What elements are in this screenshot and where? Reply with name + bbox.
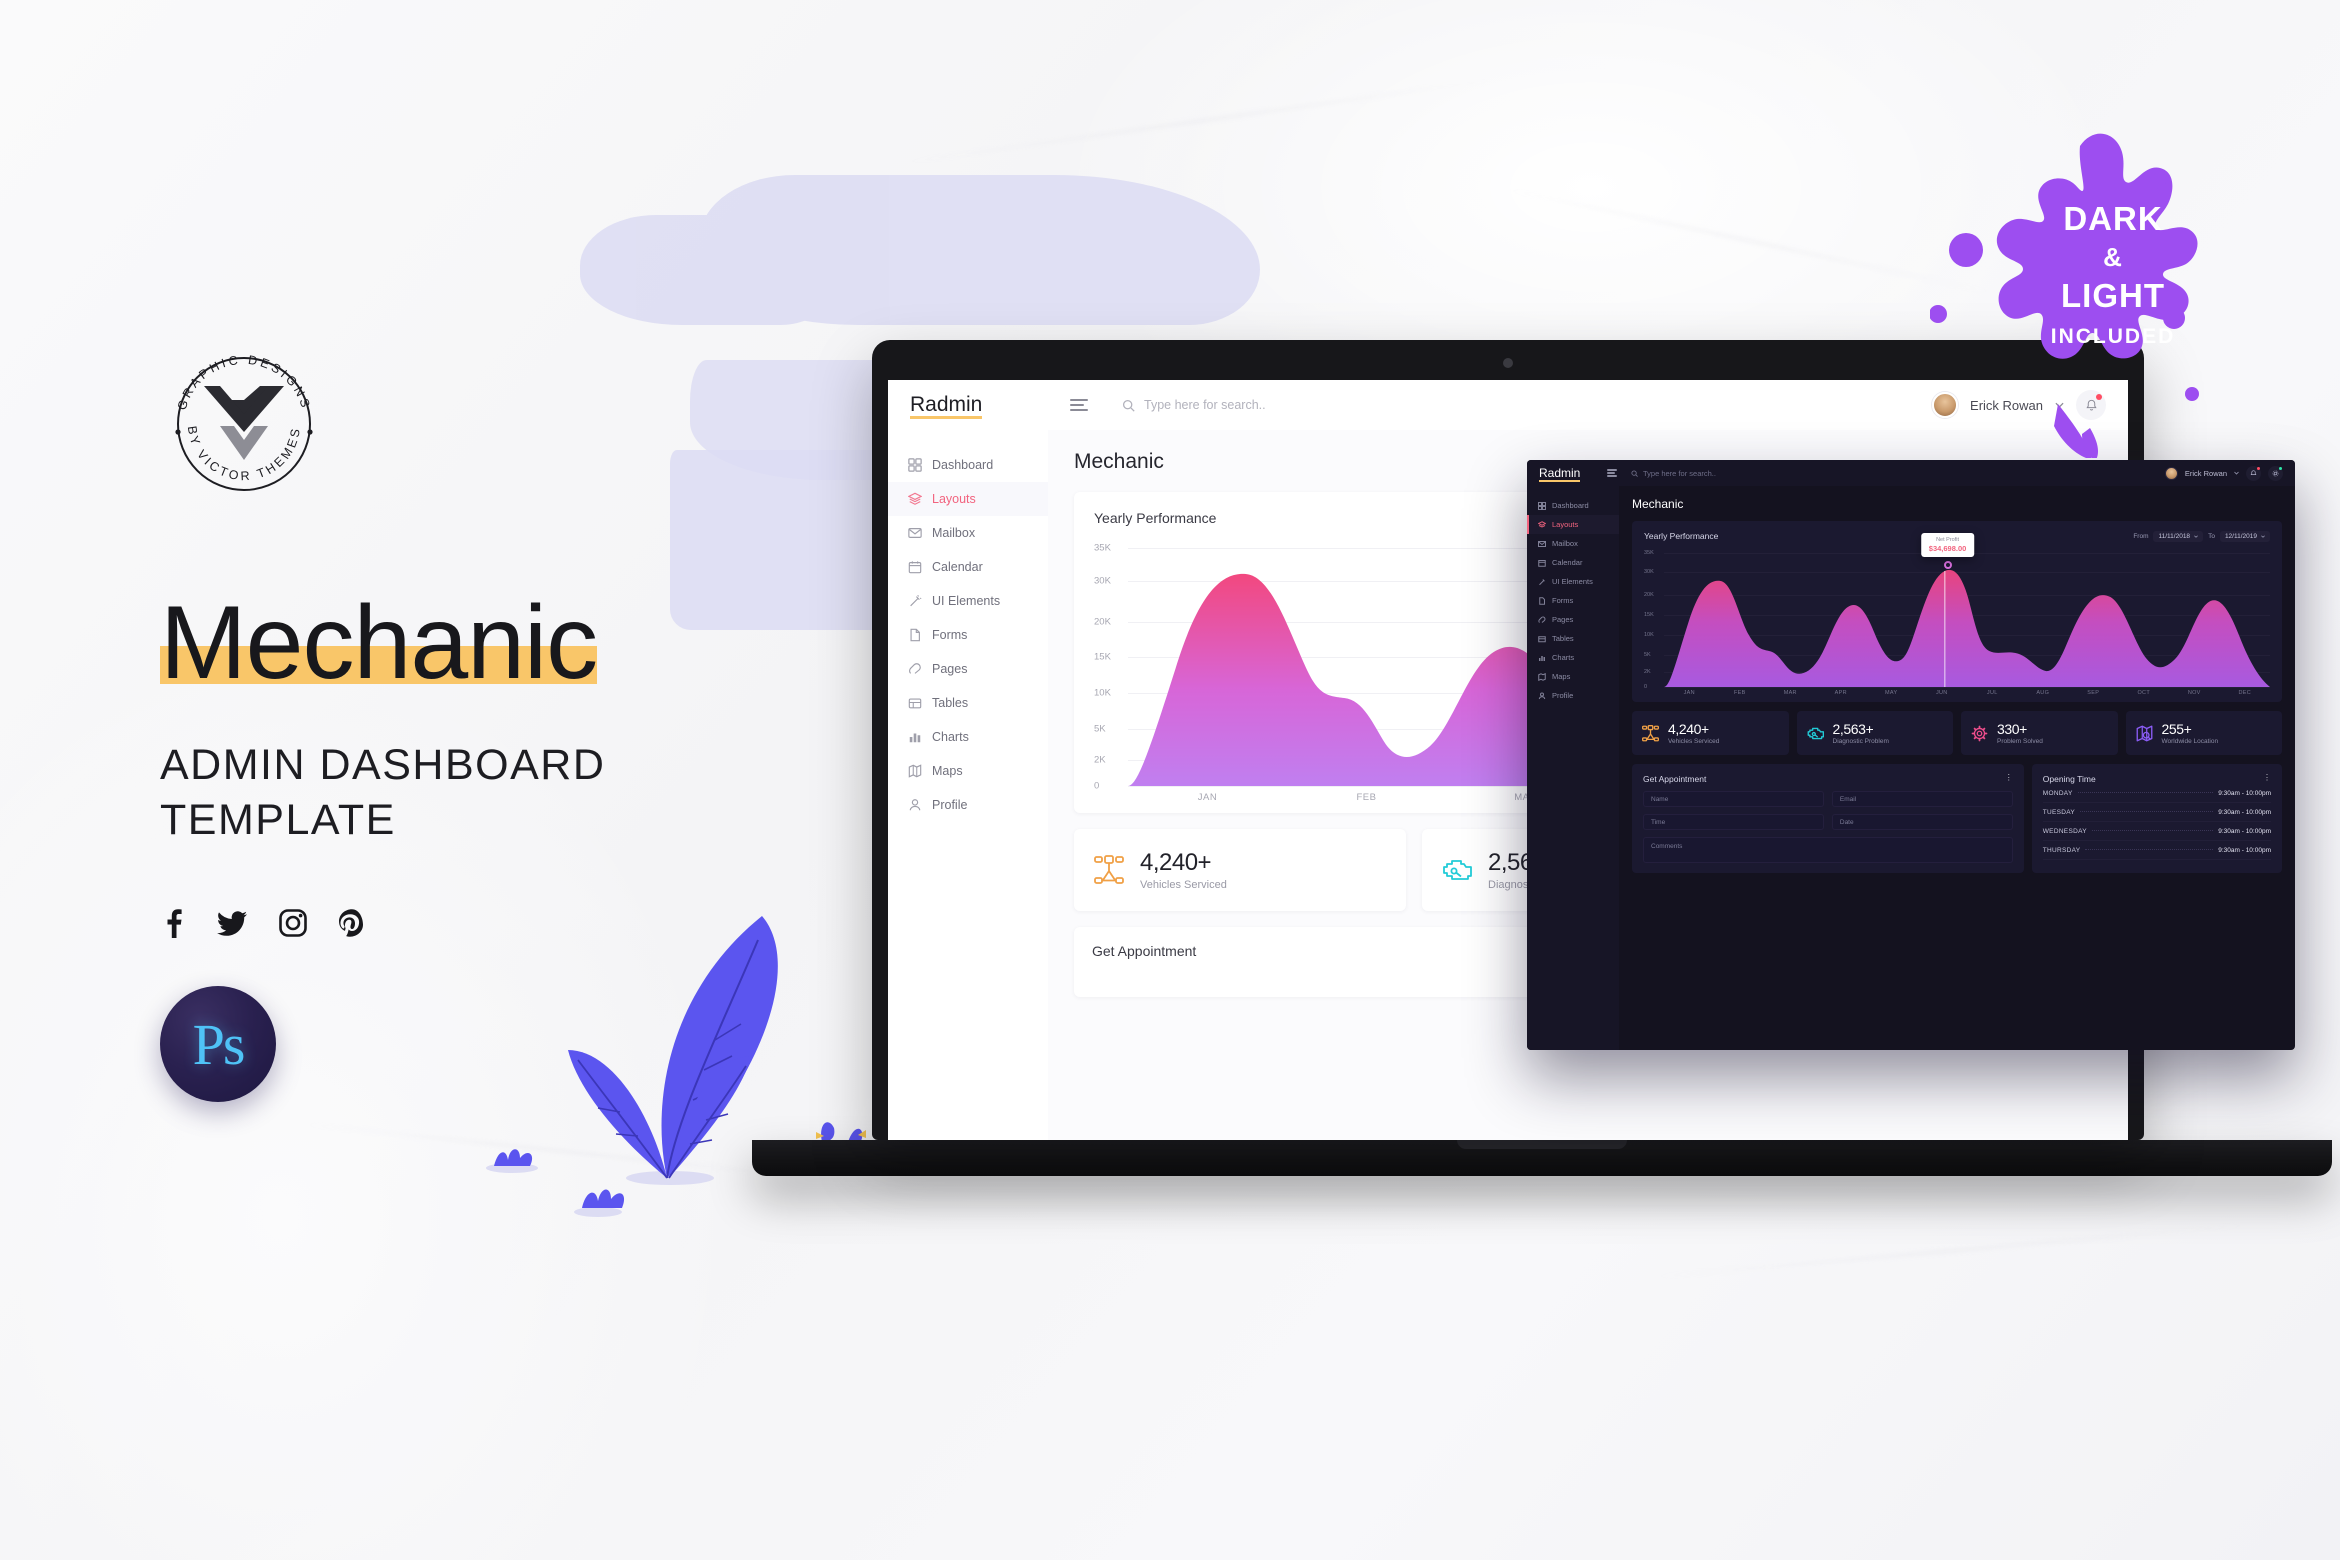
subtitle-line-1: ADMIN DASHBOARD xyxy=(160,738,800,793)
sidebar-item-label: Tables xyxy=(1552,634,1574,643)
grid-icon xyxy=(908,458,922,472)
dark-topbar: Radmin Type here for search.. Erick Rowa… xyxy=(1527,460,2295,486)
app-logo-text: Radmin xyxy=(910,393,982,416)
sidebar-item-ui-elements[interactable]: UI Elements xyxy=(1527,572,1619,591)
range-to-value: 12/11/2019 xyxy=(2225,533,2257,540)
sidebar-item-charts[interactable]: Charts xyxy=(1527,648,1619,667)
sidebar-item-label: Maps xyxy=(1552,672,1570,681)
layers-icon xyxy=(908,492,922,506)
app-logo-text: Radmin xyxy=(1539,466,1580,480)
sidebar-item-label: UI Elements xyxy=(932,594,1000,608)
appointment-row-1: Name Email xyxy=(1643,791,2013,807)
facebook-icon[interactable] xyxy=(160,908,186,938)
opening-row: MONDAY 9:30am - 10:00pm xyxy=(2043,784,2271,803)
avatar xyxy=(2165,467,2178,480)
dark-light-splash: DARK & LIGHT INCLUDED xyxy=(1930,128,2320,458)
opening-time: 9:30am - 10:00pm xyxy=(2218,828,2271,835)
sidebar-item-mailbox[interactable]: Mailbox xyxy=(888,516,1048,550)
sidebar: Dashboard Layouts Mailbox Calendar xyxy=(888,430,1048,1140)
splash-line-3: LIGHT xyxy=(1930,277,2296,315)
pinterest-icon[interactable] xyxy=(338,908,366,938)
sidebar-item-label: Pages xyxy=(932,662,967,676)
file-icon xyxy=(1538,597,1546,605)
tooltip-label: Net Profit xyxy=(1929,537,1967,543)
bar-chart-icon xyxy=(908,730,922,744)
dark-main: Mechanic Yearly Performance From 11/11/2… xyxy=(1619,486,2295,1050)
sidebar-item-forms[interactable]: Forms xyxy=(888,618,1048,652)
stat-card-problem-solved: 330+ Problem Solved xyxy=(1961,711,2118,755)
x-tick: JAN xyxy=(1664,690,1715,696)
opening-day: MONDAY xyxy=(2043,790,2073,797)
user-icon xyxy=(908,798,922,812)
sidebar-item-layouts[interactable]: Layouts xyxy=(1527,515,1619,534)
chart-point-marker xyxy=(1944,561,1952,569)
y-tick: 0 xyxy=(1094,781,1099,792)
stat-card-worldwide-location: 255+ Worldwide Location xyxy=(2126,711,2283,755)
dotted-leader xyxy=(2078,792,2214,793)
y-tick: 2K xyxy=(1094,754,1106,765)
y-tick: 5K xyxy=(1094,723,1106,734)
get-appointment-panel: Get Appointment ⋮ xyxy=(1074,927,1580,997)
x-tick: FEB xyxy=(1287,792,1446,803)
sidebar-item-maps[interactable]: Maps xyxy=(1527,667,1619,686)
stat-card-diagnostic-problem: 2,563+ Diagnostic Problem xyxy=(1797,711,1954,755)
sidebar-item-maps[interactable]: Maps xyxy=(888,754,1048,788)
range-from-input[interactable]: 11/11/2018 xyxy=(2153,531,2203,542)
x-tick: SEP xyxy=(2068,690,2119,696)
sidebar: Dashboard Layouts Mailbox Calendar UI El… xyxy=(1527,486,1619,1050)
sidebar-item-tables[interactable]: Tables xyxy=(888,686,1048,720)
opening-day: THURSDAY xyxy=(2043,847,2081,854)
stat-value: 4,240+ xyxy=(1140,849,1227,877)
sidebar-item-pages[interactable]: Pages xyxy=(1527,610,1619,629)
opening-time: 9:30am - 10:00pm xyxy=(2218,790,2271,797)
appointment-row-3: Comments xyxy=(1643,837,2013,863)
x-tick: JUL xyxy=(1967,690,2018,696)
sidebar-item-profile[interactable]: Profile xyxy=(1527,686,1619,705)
stat-value: 255+ xyxy=(2162,721,2219,737)
dark-stat-row: 4,240+ Vehicles Serviced 2,563+ Diagnost… xyxy=(1632,711,2282,755)
panel-title: Get Appointment xyxy=(1643,774,1706,784)
chevron-down-icon xyxy=(2261,535,2265,538)
table-icon xyxy=(1538,635,1546,643)
user-menu[interactable]: Erick Rowan xyxy=(2165,466,2283,481)
x-tick: FEB xyxy=(1715,690,1766,696)
engine-icon xyxy=(1440,853,1474,887)
stat-label: Problem Solved xyxy=(1997,738,2043,745)
user-icon xyxy=(1538,692,1546,700)
stat-card-vehicles-serviced: 4,240+ Vehicles Serviced xyxy=(1632,711,1789,755)
photoshop-badge-text: Ps xyxy=(193,1011,244,1078)
gear-icon xyxy=(1970,724,1989,743)
map-icon xyxy=(908,764,922,778)
y-tick: 30K xyxy=(1094,576,1111,587)
sidebar-item-label: Tables xyxy=(932,696,968,710)
date-range-filter: From 11/11/2018 To 12/11/2019 xyxy=(2133,531,2270,542)
sidebar-item-label: Maps xyxy=(932,764,963,778)
chevron-down-icon xyxy=(2194,535,2198,538)
x-tick: OCT xyxy=(2119,690,2170,696)
marble-vein xyxy=(903,78,1497,163)
y-tick: 10K xyxy=(1094,688,1111,699)
sidebar-item-label: Profile xyxy=(1552,691,1573,700)
sidebar-item-forms[interactable]: Forms xyxy=(1527,591,1619,610)
dotted-leader xyxy=(2080,811,2213,812)
dark-body: Dashboard Layouts Mailbox Calendar UI El… xyxy=(1527,486,2295,1050)
twitter-icon[interactable] xyxy=(216,908,248,938)
y-tick: 30K xyxy=(1644,569,1654,575)
sidebar-item-layouts[interactable]: Layouts xyxy=(888,482,1048,516)
splash-line-2: & xyxy=(1930,242,2296,273)
x-tick: JAN xyxy=(1128,792,1287,803)
mail-icon xyxy=(1538,540,1546,548)
stat-label: Vehicles Serviced xyxy=(1668,738,1719,745)
chart-area-path xyxy=(1664,553,2270,687)
webcam xyxy=(1503,358,1513,368)
search-icon xyxy=(1122,399,1135,412)
sidebar-item-label: Layouts xyxy=(1552,520,1578,529)
sidebar-item-label: UI Elements xyxy=(1552,577,1593,586)
dark-dashboard: Radmin Type here for search.. Erick Rowa… xyxy=(1527,460,2295,1050)
map-search-icon xyxy=(2135,724,2154,743)
sidebar-item-ui-elements[interactable]: UI Elements xyxy=(888,584,1048,618)
y-tick: 15K xyxy=(1094,652,1111,663)
x-tick: APR xyxy=(1816,690,1867,696)
layers-icon xyxy=(1538,521,1546,529)
stat-label: Diagnostic Problem xyxy=(1833,738,1889,745)
bell-icon xyxy=(2250,470,2257,477)
range-from-value: 11/11/2018 xyxy=(2158,533,2190,540)
opening-day: WEDNESDAY xyxy=(2043,828,2087,835)
opening-row: WEDNESDAY 9:30am - 10:00pm xyxy=(2043,822,2271,841)
search-icon xyxy=(1631,470,1638,477)
poster-stage: GRAPHIC DESIGNS BY VICTOR THEMES Mechani… xyxy=(0,0,2340,1560)
sidebar-item-label: Charts xyxy=(932,730,969,744)
x-tick: DEC xyxy=(2220,690,2271,696)
sidebar-item-dashboard[interactable]: Dashboard xyxy=(888,448,1048,482)
sidebar-item-label: Pages xyxy=(1552,615,1573,624)
stat-value: 330+ xyxy=(1997,721,2043,737)
chevron-down-icon xyxy=(2234,471,2239,475)
stat-value: 4,240+ xyxy=(1668,721,1719,737)
marble-vein xyxy=(1505,188,1994,294)
opening-row: THURSDAY 9:30am - 10:00pm xyxy=(2043,841,2271,860)
email-field[interactable]: Email xyxy=(1832,791,2013,807)
wand-icon xyxy=(908,594,922,608)
y-tick: 35K xyxy=(1094,543,1111,554)
page-heading: Mechanic xyxy=(1632,497,2282,511)
range-from-label: From xyxy=(2133,533,2148,540)
sidebar-item-label: Calendar xyxy=(932,560,983,574)
appointment-row-2: Time Date xyxy=(1643,814,2013,830)
get-appointment-panel: Get Appointment ⋮ Name Email Time Date xyxy=(1632,764,2024,873)
date-field[interactable]: Date xyxy=(1832,814,2013,830)
table-icon xyxy=(908,696,922,710)
sidebar-item-label: Charts xyxy=(1552,653,1574,662)
kebab-menu-icon[interactable]: ⋮ xyxy=(2263,774,2271,782)
x-tick: MAY xyxy=(1866,690,1917,696)
app-logo[interactable]: Radmin xyxy=(1539,466,1607,480)
subtitle: ADMIN DASHBOARD TEMPLATE xyxy=(160,738,800,848)
mail-icon xyxy=(908,526,922,540)
menu-toggle-icon[interactable] xyxy=(1070,399,1088,411)
chart-tooltip: Net Profit $34,698.00 xyxy=(1921,533,1975,557)
sidebar-item-pages[interactable]: Pages xyxy=(888,652,1048,686)
engine-icon xyxy=(1806,724,1825,743)
page-title: Mechanic xyxy=(160,590,597,696)
area-chart: 35K 30K 20K 15K 10K 5K 2K xyxy=(1644,553,2270,687)
search-input[interactable]: Type here for search.. xyxy=(1631,469,1716,478)
sidebar-item-charts[interactable]: Charts xyxy=(888,720,1048,754)
title-text: Mechanic xyxy=(160,590,597,696)
x-tick: NOV xyxy=(2169,690,2220,696)
victor-themes-seal: GRAPHIC DESIGNS BY VICTOR THEMES xyxy=(160,340,328,508)
map-icon xyxy=(1538,673,1546,681)
calendar-icon xyxy=(1538,559,1546,567)
stat-label: Worldwide Location xyxy=(2162,738,2219,745)
panel-title: Get Appointment xyxy=(1092,943,1196,959)
y-tick: 35K xyxy=(1644,550,1654,556)
laptop-base xyxy=(752,1140,2332,1176)
grid-icon xyxy=(1538,502,1546,510)
comments-field[interactable]: Comments xyxy=(1643,837,2013,863)
sidebar-item-label: Dashboard xyxy=(1552,501,1589,510)
notifications-button[interactable] xyxy=(2246,466,2261,481)
y-tick: 15K xyxy=(1644,612,1654,618)
sidebar-item-label: Mailbox xyxy=(932,526,975,540)
app-logo[interactable]: Radmin xyxy=(910,393,1070,417)
sidebar-item-label: Forms xyxy=(1552,596,1573,605)
dotted-leader xyxy=(2092,830,2213,831)
calendar-icon xyxy=(908,560,922,574)
range-to-input[interactable]: 12/11/2019 xyxy=(2220,531,2270,542)
splash-line-1: DARK xyxy=(1930,200,2296,238)
stat-value: 2,563+ xyxy=(1833,721,1889,737)
stat-label: Vehicles Serviced xyxy=(1140,879,1227,891)
x-tick: JUN xyxy=(1917,690,1968,696)
notification-dot xyxy=(2257,467,2261,471)
chassis-icon xyxy=(1092,853,1126,887)
chassis-icon xyxy=(1641,724,1660,743)
sidebar-item-mailbox[interactable]: Mailbox xyxy=(1527,534,1619,553)
search-placeholder: Type here for search.. xyxy=(1643,469,1716,478)
opening-row: TUESDAY 9:30am - 10:00pm xyxy=(2043,803,2271,822)
panel-title: Opening Time xyxy=(2043,774,2096,784)
search-placeholder: Type here for search.. xyxy=(1144,398,1266,412)
settings-button[interactable] xyxy=(2268,466,2283,481)
sidebar-item-calendar[interactable]: Calendar xyxy=(888,550,1048,584)
background-blob xyxy=(700,175,1260,325)
dotted-leader xyxy=(2085,849,2213,850)
opening-time: 9:30am - 10:00pm xyxy=(2218,809,2271,816)
y-tick: 20K xyxy=(1644,592,1654,598)
splash-line-4: INCLUDED xyxy=(1930,325,2296,349)
y-tick: 5K xyxy=(1644,652,1651,658)
opening-time: 9:30am - 10:00pm xyxy=(2218,847,2271,854)
range-to-label: To xyxy=(2208,533,2215,540)
instagram-icon[interactable] xyxy=(278,908,308,938)
y-tick: 2K xyxy=(1644,669,1651,675)
sidebar-item-calendar[interactable]: Calendar xyxy=(1527,553,1619,572)
x-tick: MAR xyxy=(1765,690,1816,696)
user-name: Erick Rowan xyxy=(2185,469,2227,478)
subtitle-line-2: TEMPLATE xyxy=(160,793,800,848)
gear-icon xyxy=(2272,470,2279,477)
time-field[interactable]: Time xyxy=(1643,814,1824,830)
sidebar-item-label: Forms xyxy=(932,628,967,642)
sidebar-item-label: Mailbox xyxy=(1552,539,1578,548)
yearly-performance-card: Yearly Performance From 11/11/2018 To 12… xyxy=(1632,521,2282,702)
tooltip-value: $34,698.00 xyxy=(1929,544,1967,553)
y-tick: 0 xyxy=(1644,684,1647,690)
x-tick: AUG xyxy=(2018,690,2069,696)
sidebar-item-tables[interactable]: Tables xyxy=(1527,629,1619,648)
y-tick: 10K xyxy=(1644,632,1654,638)
kebab-menu-icon[interactable]: ⋮ xyxy=(2005,774,2013,782)
sidebar-item-dashboard[interactable]: Dashboard xyxy=(1527,496,1619,515)
file-icon xyxy=(908,628,922,642)
sidebar-item-label: Dashboard xyxy=(932,458,993,472)
sidebar-item-label: Calendar xyxy=(1552,558,1582,567)
settings-dot xyxy=(2279,467,2283,471)
splash-text: DARK & LIGHT INCLUDED xyxy=(1930,200,2296,349)
photoshop-badge: Ps xyxy=(160,986,276,1102)
pages-icon xyxy=(1538,616,1546,624)
sidebar-item-label: Layouts xyxy=(932,492,976,506)
name-field[interactable]: Name xyxy=(1643,791,1824,807)
opening-day: TUESDAY xyxy=(2043,809,2075,816)
dark-panel-row: Get Appointment ⋮ Name Email Time Date xyxy=(1632,764,2282,873)
search-input[interactable]: Type here for search.. xyxy=(1122,398,1266,412)
stat-card-vehicles-serviced: 4,240+ Vehicles Serviced xyxy=(1074,829,1406,911)
sidebar-item-label: Profile xyxy=(932,798,967,812)
y-tick: 20K xyxy=(1094,616,1111,627)
opening-time-panel: Opening Time ⋮ MONDAY 9:30am - 10:00pm T… xyxy=(2032,764,2282,873)
marble-vein xyxy=(1651,1224,2249,1278)
menu-toggle-icon[interactable] xyxy=(1607,469,1617,477)
sidebar-item-profile[interactable]: Profile xyxy=(888,788,1048,822)
pages-icon xyxy=(908,662,922,676)
gridline xyxy=(1664,687,2270,688)
x-axis: JAN FEB MAR APR MAY JUN JUL AUG SEP OCT … xyxy=(1664,690,2270,696)
bar-chart-icon xyxy=(1538,654,1546,662)
wand-icon xyxy=(1538,578,1546,586)
